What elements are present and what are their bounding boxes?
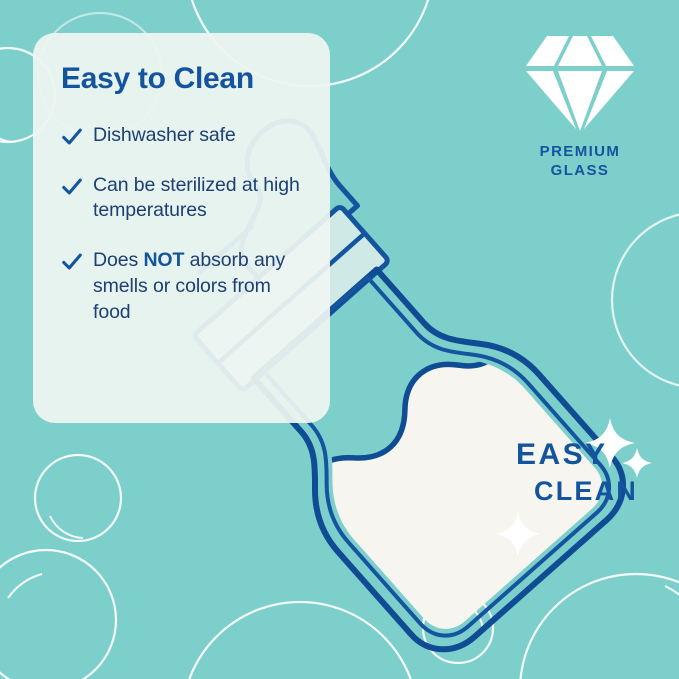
feature-card: Easy to Clean Dishwasher safe Can be ste…: [33, 33, 330, 423]
premium-badge-line2: GLASS: [551, 162, 610, 179]
feature-text-emphasis: NOT: [143, 249, 184, 271]
easy-clean-line1: EASY: [516, 440, 661, 470]
check-icon: [61, 126, 83, 148]
feature-text: Dishwasher safe: [93, 123, 236, 149]
diamond-icon: [521, 30, 639, 134]
list-item: Dishwasher safe: [61, 123, 306, 149]
easy-clean-line2: CLEAN: [534, 478, 661, 505]
feature-text: Can be sterilized at high temperatures: [93, 173, 306, 224]
easy-clean-mark: EASY CLEAN: [516, 440, 661, 505]
promo-graphic-canvas: Easy to Clean Dishwasher safe Can be ste…: [0, 0, 679, 679]
premium-badge-label: PREMIUM GLASS: [505, 143, 655, 181]
list-item: Does NOT absorb any smells or colors fro…: [61, 248, 306, 325]
premium-glass-badge: PREMIUM GLASS: [505, 30, 655, 181]
feature-list: Dishwasher safe Can be sterilized at hig…: [61, 123, 306, 325]
feature-text-before: Does: [93, 249, 143, 271]
list-item: Can be sterilized at high temperatures: [61, 173, 306, 224]
premium-badge-line1: PREMIUM: [540, 143, 621, 160]
page-title: Easy to Clean: [61, 62, 306, 95]
feature-text: Does NOT absorb any smells or colors fro…: [93, 248, 306, 325]
check-icon: [61, 251, 83, 273]
check-icon: [61, 176, 83, 198]
